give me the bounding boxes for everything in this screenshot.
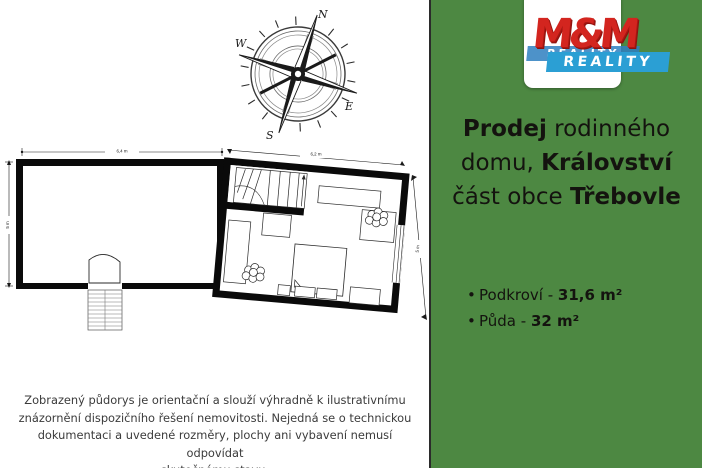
feature-label-podkrovi: Podkroví - — [479, 282, 558, 308]
stair-right — [227, 165, 307, 209]
furniture-landing-box — [262, 213, 292, 237]
compass-rose: N E S W — [232, 2, 362, 142]
headline-rest-1: rodinného — [547, 116, 670, 142]
headline-line-3: část obce Třebovle — [439, 180, 694, 214]
headline-rest-3: část obce — [452, 184, 570, 210]
headline-rest-2: domu, — [461, 150, 541, 176]
dimension-label-left-width: 6,4 m — [117, 149, 128, 154]
floorplan-panel: N E S W — [0, 0, 430, 468]
compass-label-west: W — [235, 37, 248, 50]
headline-word-trebovle: Třebovle — [570, 184, 681, 210]
headline-line-1: Prodej rodinného — [439, 112, 694, 146]
stair-left — [88, 254, 122, 330]
disclaimer-line-2: znázornění dispozičního řešení nemovitos… — [10, 410, 420, 428]
feature-value-puda: 32 m² — [531, 308, 579, 334]
dimension-label-right-height: 5 m — [415, 245, 421, 253]
disclaimer-text: Zobrazený půdorys je orientační a slouží… — [10, 392, 420, 468]
bullet-icon: • — [467, 308, 479, 334]
compass-label-north: N — [317, 8, 328, 21]
feature-label-puda: Půda - — [479, 308, 531, 334]
disclaimer-line-3: dokumentaci a uvedené rozměry, plochy an… — [10, 427, 420, 462]
disclaimer-line-1: Zobrazený půdorys je orientační a slouží… — [10, 392, 420, 410]
headline-word-prodej: Prodej — [463, 116, 547, 142]
floorplan-drawing: 6,4 m 5 m — [0, 140, 430, 350]
disclaimer-line-4: skutečnému stavu. — [10, 462, 420, 468]
feature-list: • Podkroví - 31,6 m² • Půda - 32 m² — [467, 282, 697, 334]
list-item: • Podkroví - 31,6 m² — [467, 282, 697, 308]
compass-label-east: E — [344, 100, 353, 113]
headline-word-kralovstvi: Království — [541, 150, 672, 176]
furniture-chest — [349, 287, 380, 306]
list-item: • Půda - 32 m² — [467, 308, 697, 334]
listing-headline: Prodej rodinného domu, Království část o… — [439, 112, 694, 214]
brand-logo[interactable]: REALITY M&M REALITY — [527, 14, 687, 76]
info-panel: REALITY M&M REALITY Prodej rodinného dom… — [431, 0, 702, 468]
bullet-icon: • — [467, 282, 479, 308]
logo-wordmark: M&M — [531, 14, 638, 54]
compass-icon: N E S W — [232, 2, 362, 142]
floorplan-svg: 6,4 m 5 m — [0, 140, 430, 350]
logo-reality-bar: REALITY — [546, 52, 670, 72]
listing-floorplan-graphic: N E S W — [0, 0, 702, 468]
headline-line-2: domu, Království — [439, 146, 694, 180]
room-right — [212, 157, 409, 313]
dimension-label-right-width: 6,2 m — [311, 152, 322, 157]
dimension-label-left-height: 5 m — [5, 221, 10, 229]
feature-value-podkrovi: 31,6 m² — [558, 282, 622, 308]
furniture-nightstand-left — [278, 285, 291, 296]
